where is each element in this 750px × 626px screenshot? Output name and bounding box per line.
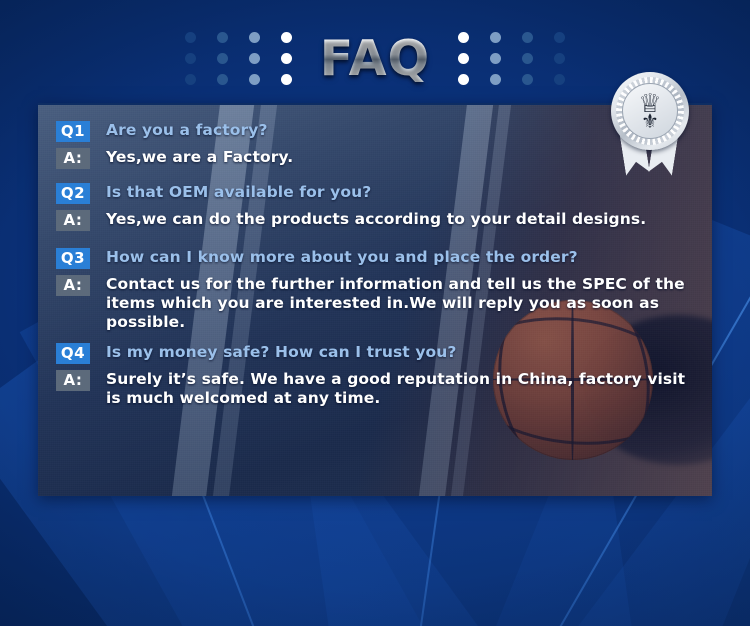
faq-item: Q2 Is that OEM available for you? A: Yes… [56,183,694,231]
answer-badge: A: [56,210,90,231]
decorative-dots-right [458,32,565,85]
crown-emblem-sub-icon: ⚜ [623,111,677,131]
dot-icon [522,32,533,43]
dot-icon [217,32,228,43]
faq-question-row: Q4 Is my money safe? How can I trust you… [56,343,694,364]
dot-icon [458,74,469,85]
question-badge: Q2 [56,183,90,204]
faq-answer-row: A: Surely it’s safe. We have a good repu… [56,370,694,408]
medal-inner: ♕ ⚜ [622,83,678,139]
dot-icon [185,32,196,43]
dot-icon [281,32,292,43]
decorative-dots-left [185,32,292,85]
answer-badge: A: [56,370,90,391]
faq-item: Q3 How can I know more about you and pla… [56,248,694,332]
dot-icon [522,74,533,85]
answer-badge: A: [56,148,90,169]
dot-icon [458,53,469,64]
faq-answer-row: A: Yes,we are a Factory. [56,148,694,169]
answer-text: Yes,we can do the products according to … [106,210,646,229]
question-badge: Q3 [56,248,90,269]
question-text: Are you a factory? [106,121,268,140]
medal-disc: ♕ ⚜ [611,72,689,150]
dot-icon [217,53,228,64]
faq-banner: FAQ Q1 Are you a factory? [0,0,750,626]
dot-icon [522,53,533,64]
faq-answer-row: A: Yes,we can do the products according … [56,210,694,231]
faq-item: Q4 Is my money safe? How can I trust you… [56,343,694,408]
dot-icon [554,74,565,85]
answer-badge: A: [56,275,90,296]
dot-icon [281,53,292,64]
dot-icon [249,53,260,64]
question-text: Is my money safe? How can I trust you? [106,343,457,362]
answer-text: Contact us for the further information a… [106,275,694,332]
dot-icon [458,32,469,43]
answer-text: Surely it’s safe. We have a good reputat… [106,370,694,408]
dot-icon [281,74,292,85]
faq-question-row: Q2 Is that OEM available for you? [56,183,694,204]
dot-icon [554,53,565,64]
question-text: Is that OEM available for you? [106,183,371,202]
faq-question-row: Q1 Are you a factory? [56,121,694,142]
question-text: How can I know more about you and place … [106,248,578,267]
dot-icon [490,53,501,64]
quality-medal: ♕ ⚜ [608,72,692,176]
dot-icon [249,32,260,43]
dot-icon [185,74,196,85]
dot-icon [490,32,501,43]
question-badge: Q1 [56,121,90,142]
faq-answer-row: A: Contact us for the further informatio… [56,275,694,332]
question-badge: Q4 [56,343,90,364]
dot-icon [554,32,565,43]
dot-icon [217,74,228,85]
dot-icon [185,53,196,64]
answer-text: Yes,we are a Factory. [106,148,293,167]
faq-question-row: Q3 How can I know more about you and pla… [56,248,694,269]
dot-icon [490,74,501,85]
dot-icon [249,74,260,85]
faq-item: Q1 Are you a factory? A: Yes,we are a Fa… [56,121,694,169]
page-title: FAQ [314,34,436,83]
